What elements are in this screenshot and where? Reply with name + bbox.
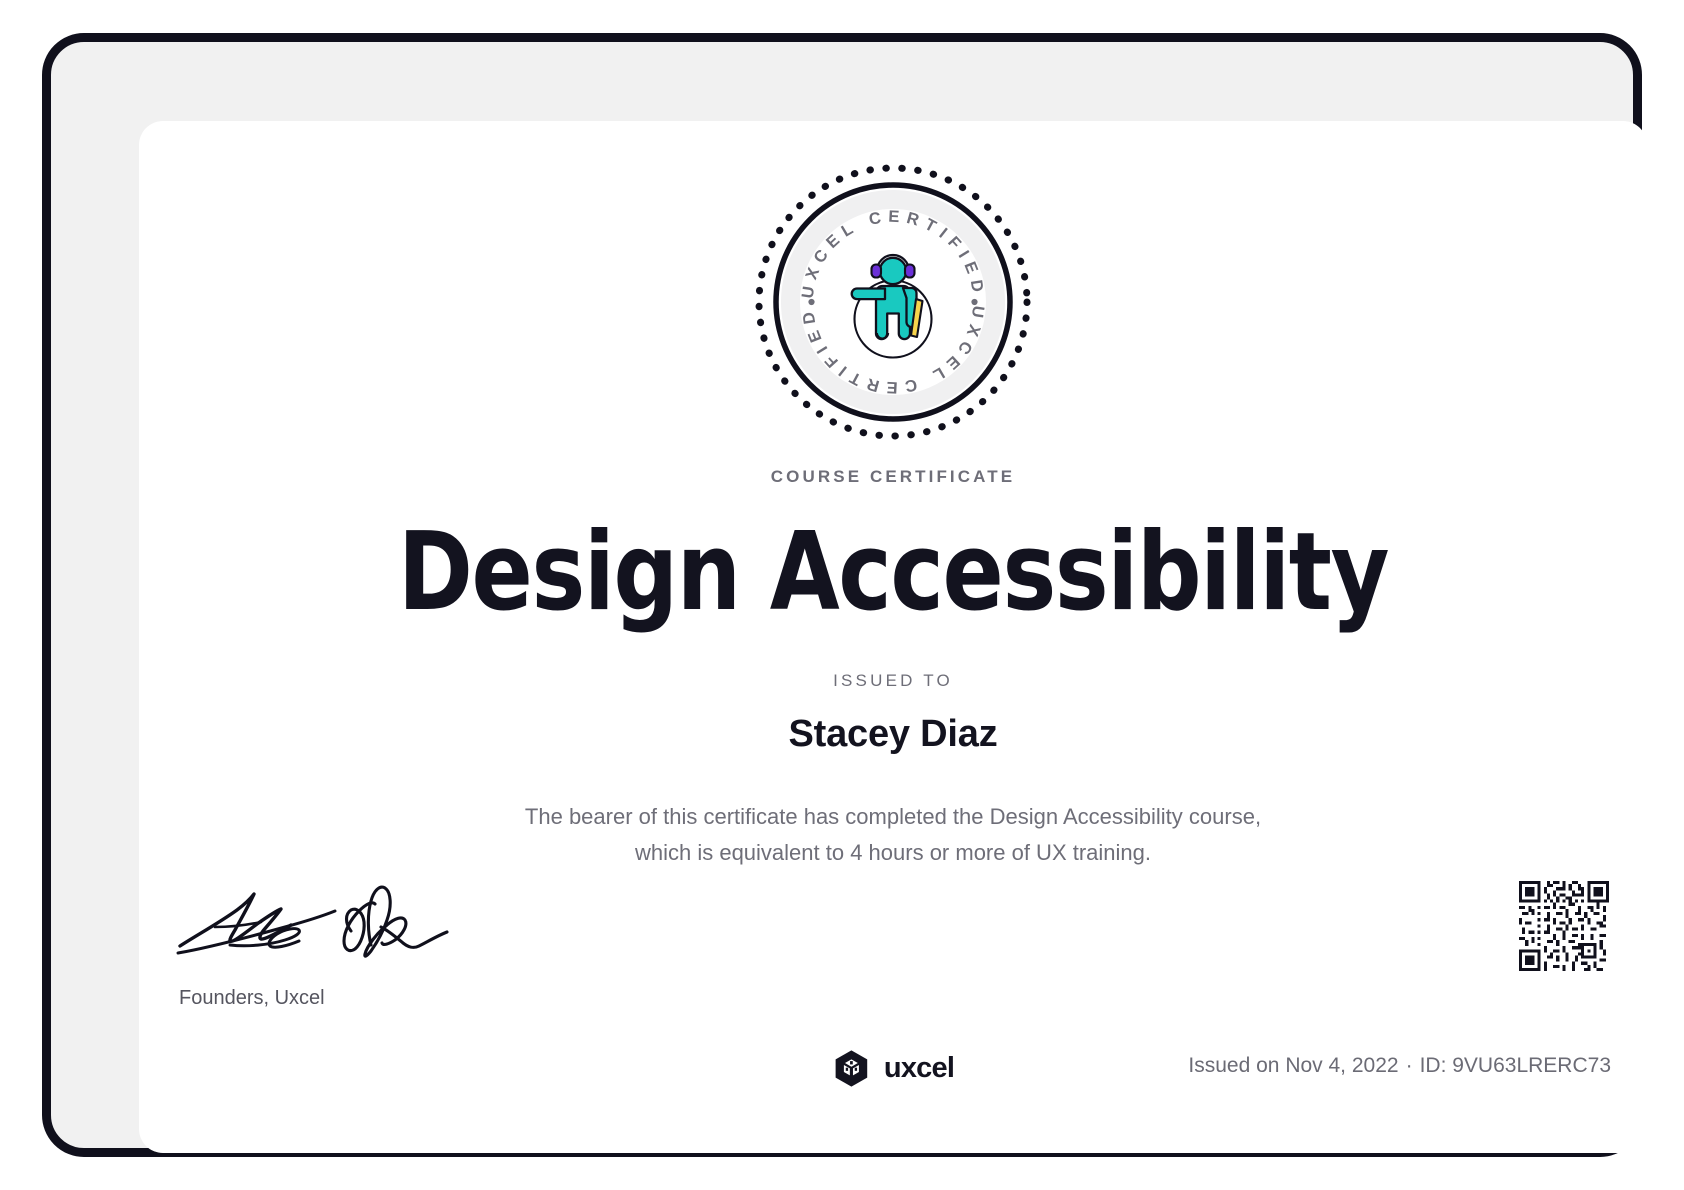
page-title: Design Accessibility — [192, 511, 1594, 635]
description-line-2: which is equivalent to 4 hours or more o… — [139, 835, 1647, 871]
certificate-meta: Issued on Nov 4, 2022·ID: 9VU63LRERC73 — [1188, 1054, 1611, 1078]
uxcel-hexagon-icon — [832, 1049, 871, 1088]
signature-caption: Founders, Uxcel — [175, 987, 505, 1010]
certificate-card: UXCEL CERTIFIED UXCEL CERTIFIED — [139, 121, 1647, 1153]
uxcel-brand-logo: uxcel — [832, 1049, 954, 1088]
badge-ring-dot-left — [808, 299, 814, 305]
certificate-page: UXCEL CERTIFIED UXCEL CERTIFIED — [0, 0, 1684, 1190]
recipient-name: Stacey Diaz — [139, 713, 1647, 756]
issue-date: Issued on Nov 4, 2022 — [1188, 1054, 1398, 1077]
certificate-outer-frame: UXCEL CERTIFIED UXCEL CERTIFIED — [42, 33, 1642, 1157]
verification-qr-code[interactable] — [1519, 881, 1609, 971]
uxcel-wordmark: uxcel — [884, 1052, 954, 1085]
certificate-description: The bearer of this certificate has compl… — [139, 799, 1647, 870]
badge-ring-dot-right — [971, 299, 977, 305]
signature-block: Founders, Uxcel — [175, 883, 505, 1010]
issued-to-label: ISSUED TO — [139, 671, 1647, 691]
meta-separator: · — [1399, 1054, 1420, 1077]
course-certificate-kicker: COURSE CERTIFICATE — [139, 467, 1647, 487]
certificate-id: ID: 9VU63LRERC73 — [1420, 1054, 1611, 1077]
uxcel-certified-badge: UXCEL CERTIFIED UXCEL CERTIFIED — [752, 161, 1034, 443]
description-line-1: The bearer of this certificate has compl… — [139, 799, 1647, 835]
founders-signature-image — [175, 883, 465, 965]
